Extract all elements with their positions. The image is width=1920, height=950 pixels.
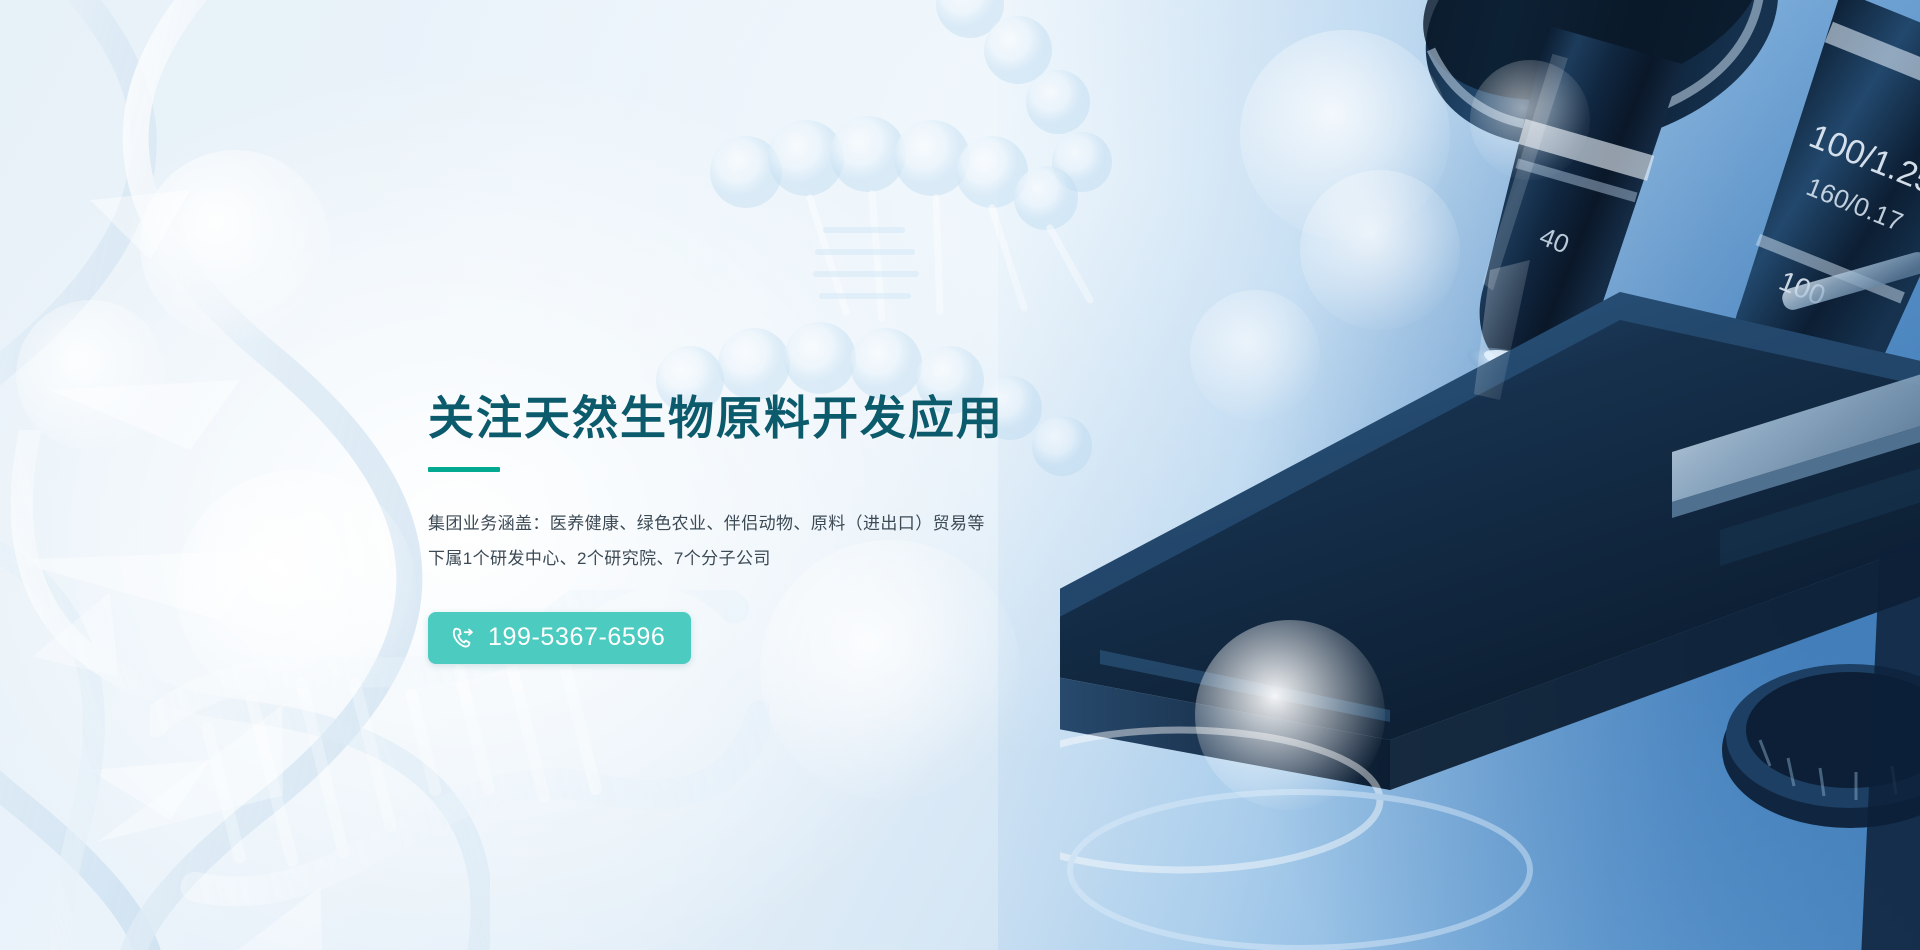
page-title: 关注天然生物原料开发应用 (428, 392, 1248, 445)
phone-number-label: 199-5367-6596 (488, 625, 665, 650)
title-underline-rule (428, 467, 500, 472)
description-line-1: 集团业务涵盖：医养健康、绿色农业、伴侣动物、原料（进出口）贸易等 (428, 506, 1248, 541)
hero-content: 关注天然生物原料开发应用 集团业务涵盖：医养健康、绿色农业、伴侣动物、原料（进出… (428, 392, 1248, 664)
phone-call-button[interactable]: 199-5367-6596 (428, 612, 691, 664)
hero-banner: 40 100/1.25 160/0.17 100 (0, 0, 1920, 950)
hero-description: 集团业务涵盖：医养健康、绿色农业、伴侣动物、原料（进出口）贸易等 下属1个研发中… (428, 506, 1248, 576)
phone-forwarded-icon (450, 625, 476, 651)
description-line-2: 下属1个研发中心、2个研究院、7个分子公司 (428, 541, 1248, 576)
